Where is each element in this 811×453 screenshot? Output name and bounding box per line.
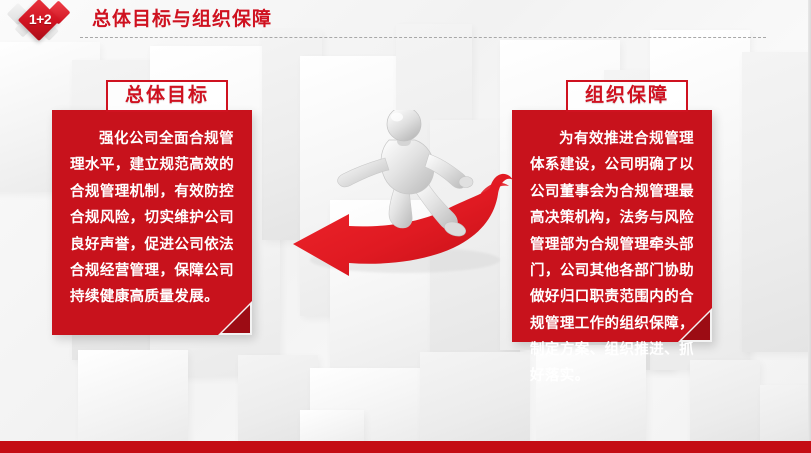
logo: 1+2: [8, 2, 86, 44]
slide-canvas: 1+2 总体目标与组织保障 强化公司全面合规管理水平，建立规范高效的合规管理机制…: [0, 0, 811, 453]
bg-block: [78, 350, 188, 445]
slide-header: 1+2 总体目标与组织保障: [0, 0, 811, 46]
page-title: 总体目标与组织保障: [92, 4, 272, 31]
card-title-left: 总体目标: [106, 80, 228, 112]
folded-corner-icon: [218, 301, 252, 335]
bg-block: [742, 52, 811, 352]
folded-corner-icon: [678, 308, 712, 342]
card-title-right: 组织保障: [566, 80, 688, 112]
objective-card-right: 为有效推进合规管理体系建设，公司明确了以公司董事会为合规管理最高决策机构，法务与…: [512, 110, 712, 342]
slide-bottom-bar: [0, 441, 811, 453]
logo-text: 1+2: [21, 11, 59, 27]
header-divider: [80, 37, 766, 38]
bg-block: [690, 360, 760, 445]
objective-card-left: 强化公司全面合规管理水平，建立规范高效的合规管理机制，有效防控合规风险，切实维护…: [52, 110, 252, 335]
bg-block: [420, 352, 530, 447]
figure-riding-red-arrow-icon: [285, 110, 520, 300]
bg-block: [760, 385, 811, 445]
